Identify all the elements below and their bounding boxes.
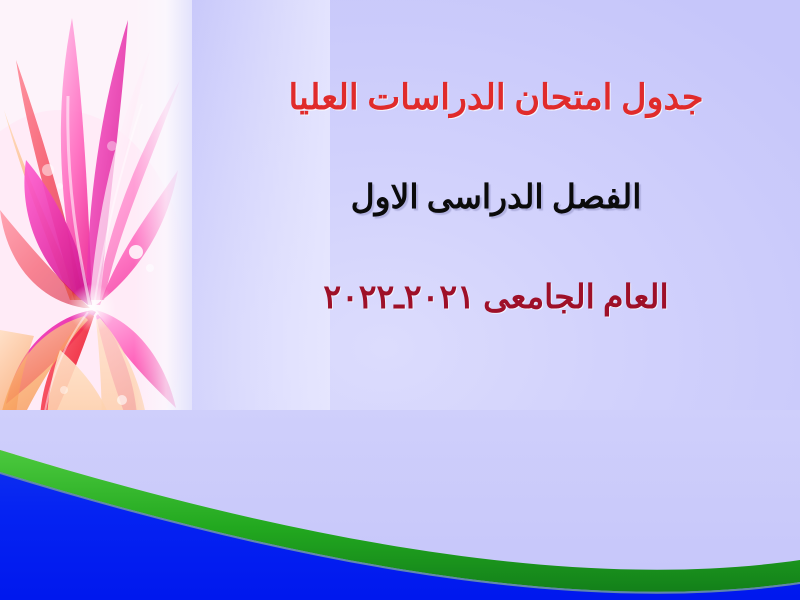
slide-text-block: جدول امتحان الدراسات العليا الفصل الدراس…: [192, 0, 800, 440]
presentation-slide: جدول امتحان الدراسات العليا الفصل الدراس…: [0, 0, 800, 600]
page-title: جدول امتحان الدراسات العليا: [192, 78, 800, 118]
floral-decoration-panel: [0, 0, 192, 470]
academic-year-label: العام الجامعى ٢٠٢١ـ٢٠٢٢: [192, 280, 800, 318]
semester-subtitle: الفصل الدراسى الاول: [192, 180, 800, 218]
footer-banner: [0, 410, 800, 600]
